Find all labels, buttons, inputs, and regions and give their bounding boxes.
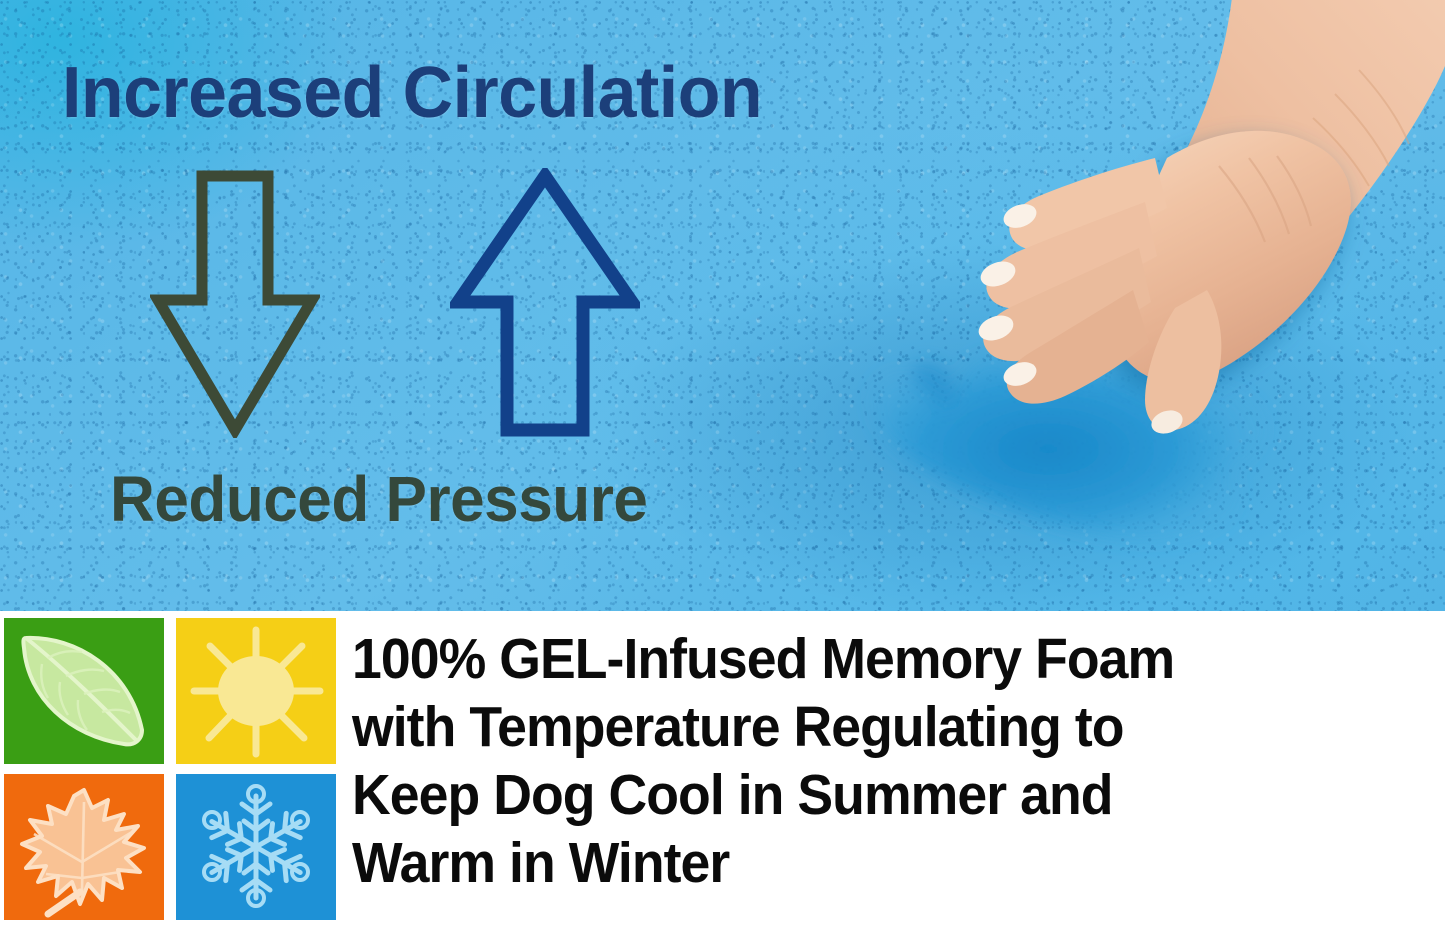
blurb-line-3: Keep Dog Cool in Summer and bbox=[352, 761, 1372, 829]
snowflake-icon bbox=[176, 774, 336, 920]
arrow-down-icon bbox=[150, 170, 320, 438]
hand-on-foam-photo bbox=[815, 0, 1445, 611]
season-tile-autumn bbox=[4, 774, 164, 920]
season-icon-grid bbox=[4, 618, 338, 920]
product-feature-graphic: Increased Circulation Reduced Pressure bbox=[0, 0, 1445, 927]
leaf-icon bbox=[4, 618, 164, 764]
arrow-up-icon bbox=[450, 168, 640, 440]
sun-icon bbox=[176, 618, 336, 764]
season-tile-summer bbox=[176, 618, 336, 764]
maple-leaf-icon bbox=[4, 774, 164, 920]
season-tile-winter bbox=[176, 774, 336, 920]
season-tile-spring bbox=[4, 618, 164, 764]
memory-foam-photo-panel: Increased Circulation Reduced Pressure bbox=[0, 0, 1445, 611]
feature-blurb: 100% GEL-Infused Memory Foam with Temper… bbox=[352, 625, 1437, 897]
blurb-line-4: Warm in Winter bbox=[352, 829, 1372, 897]
feature-description-panel: 100% GEL-Infused Memory Foam with Temper… bbox=[0, 611, 1445, 927]
blurb-line-2: with Temperature Regulating to bbox=[352, 693, 1372, 761]
headline-reduced-pressure: Reduced Pressure bbox=[110, 462, 647, 536]
headline-increased-circulation: Increased Circulation bbox=[62, 52, 762, 134]
blurb-line-1: 100% GEL-Infused Memory Foam bbox=[352, 625, 1372, 693]
